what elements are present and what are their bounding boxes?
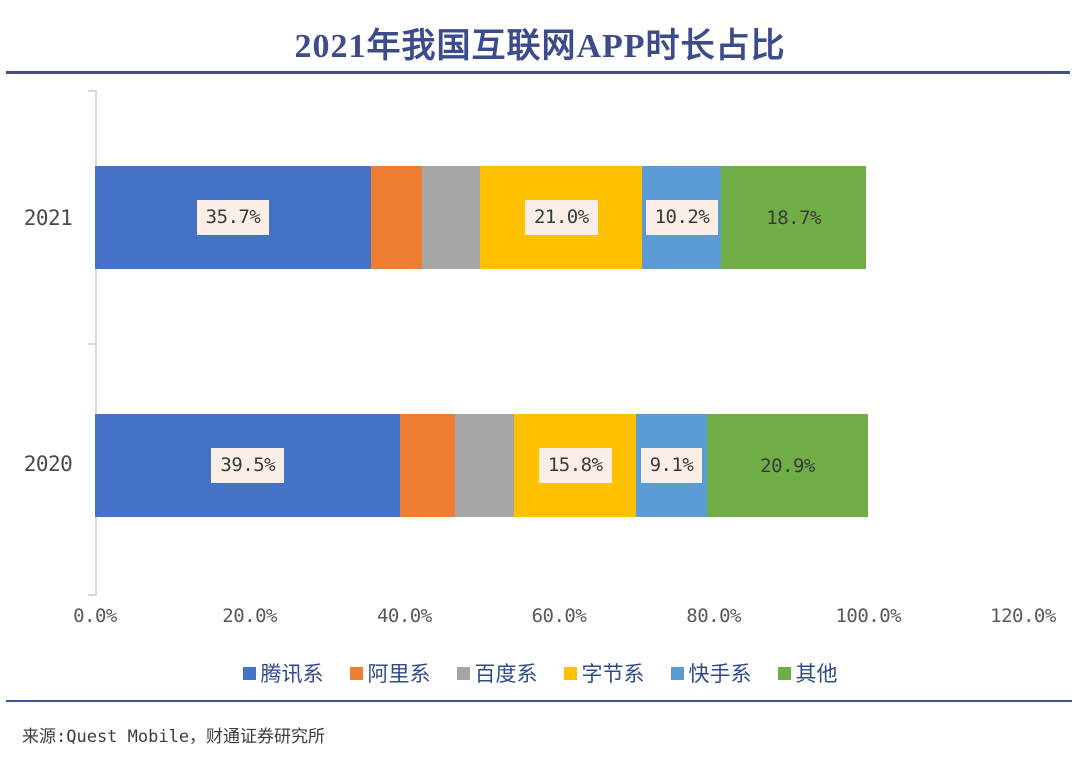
- y-axis-tick-top: [88, 90, 95, 92]
- x-tick-label-0: 0.0%: [40, 605, 150, 627]
- x-tick-label-3: 60.0%: [504, 605, 614, 627]
- legend-item-3[interactable]: 字节系: [564, 658, 645, 688]
- bar-segment-2020-0[interactable]: 39.5%: [95, 414, 400, 517]
- bar-segment-2020-2[interactable]: [455, 414, 514, 517]
- bar-segment-2021-3[interactable]: 21.0%: [480, 166, 642, 269]
- chart-legend: 腾讯系阿里系百度系字节系快手系其他: [0, 658, 1080, 688]
- bar-value-label: 18.7%: [766, 207, 821, 229]
- x-tick-label-4: 80.0%: [659, 605, 769, 627]
- bar-value-label: 35.7%: [197, 200, 270, 235]
- y-axis-tick-bottom: [88, 594, 95, 596]
- bar-value-label: 39.5%: [211, 448, 284, 483]
- legend-swatch-icon: [778, 667, 791, 680]
- bar-value-label: 10.2%: [646, 200, 719, 235]
- legend-item-2[interactable]: 百度系: [457, 658, 538, 688]
- footer-divider: [6, 700, 1072, 702]
- bar-segment-2021-2[interactable]: [422, 166, 480, 269]
- title-divider: [6, 71, 1070, 74]
- bar-value-label: 20.9%: [760, 455, 815, 477]
- legend-label: 阿里系: [368, 658, 431, 688]
- x-tick-label-2: 40.0%: [349, 605, 459, 627]
- x-tick-label-6: 120.0%: [968, 605, 1078, 627]
- bar-segment-2020-5[interactable]: 20.9%: [707, 414, 869, 517]
- legend-swatch-icon: [671, 667, 684, 680]
- bar-value-label: 21.0%: [525, 200, 598, 235]
- legend-label: 字节系: [582, 658, 645, 688]
- legend-item-4[interactable]: 快手系: [671, 658, 752, 688]
- chart-page: 2021年我国互联网APP时长占比 2021 2020 35.7%21.0%10…: [0, 0, 1080, 765]
- legend-item-5[interactable]: 其他: [778, 658, 838, 688]
- x-tick-label-1: 20.0%: [195, 605, 305, 627]
- legend-label: 百度系: [475, 658, 538, 688]
- legend-swatch-icon: [243, 667, 256, 680]
- bar-segment-2020-4[interactable]: 9.1%: [636, 414, 706, 517]
- legend-label: 快手系: [689, 658, 752, 688]
- bar-segment-2021-1[interactable]: [371, 166, 422, 269]
- bar-segment-2020-3[interactable]: 15.8%: [514, 414, 636, 517]
- page-title: 2021年我国互联网APP时长占比: [0, 18, 1080, 67]
- bar-segment-2021-0[interactable]: 35.7%: [95, 166, 371, 269]
- y-axis-label-2021: 2021: [8, 206, 88, 230]
- x-tick-label-5: 100.0%: [813, 605, 923, 627]
- legend-swatch-icon: [457, 667, 470, 680]
- source-note: 来源:Quest Mobile，财通证券研究所: [22, 722, 325, 747]
- bar-segment-2021-4[interactable]: 10.2%: [642, 166, 721, 269]
- bar-segment-2021-5[interactable]: 18.7%: [721, 166, 866, 269]
- legend-label: 其他: [796, 658, 838, 688]
- plot-area: 35.7%21.0%10.2%18.7% 39.5%15.8%9.1%20.9%: [95, 90, 1061, 596]
- legend-item-1[interactable]: 阿里系: [350, 658, 431, 688]
- bar-value-label: 9.1%: [641, 448, 703, 483]
- y-axis-tick-middle: [88, 343, 95, 345]
- bar-segment-2020-1[interactable]: [400, 414, 455, 517]
- legend-label: 腾讯系: [261, 658, 324, 688]
- legend-item-0[interactable]: 腾讯系: [243, 658, 324, 688]
- y-axis-label-2020: 2020: [8, 452, 88, 476]
- bar-value-label: 15.8%: [539, 448, 612, 483]
- legend-swatch-icon: [350, 667, 363, 680]
- legend-swatch-icon: [564, 667, 577, 680]
